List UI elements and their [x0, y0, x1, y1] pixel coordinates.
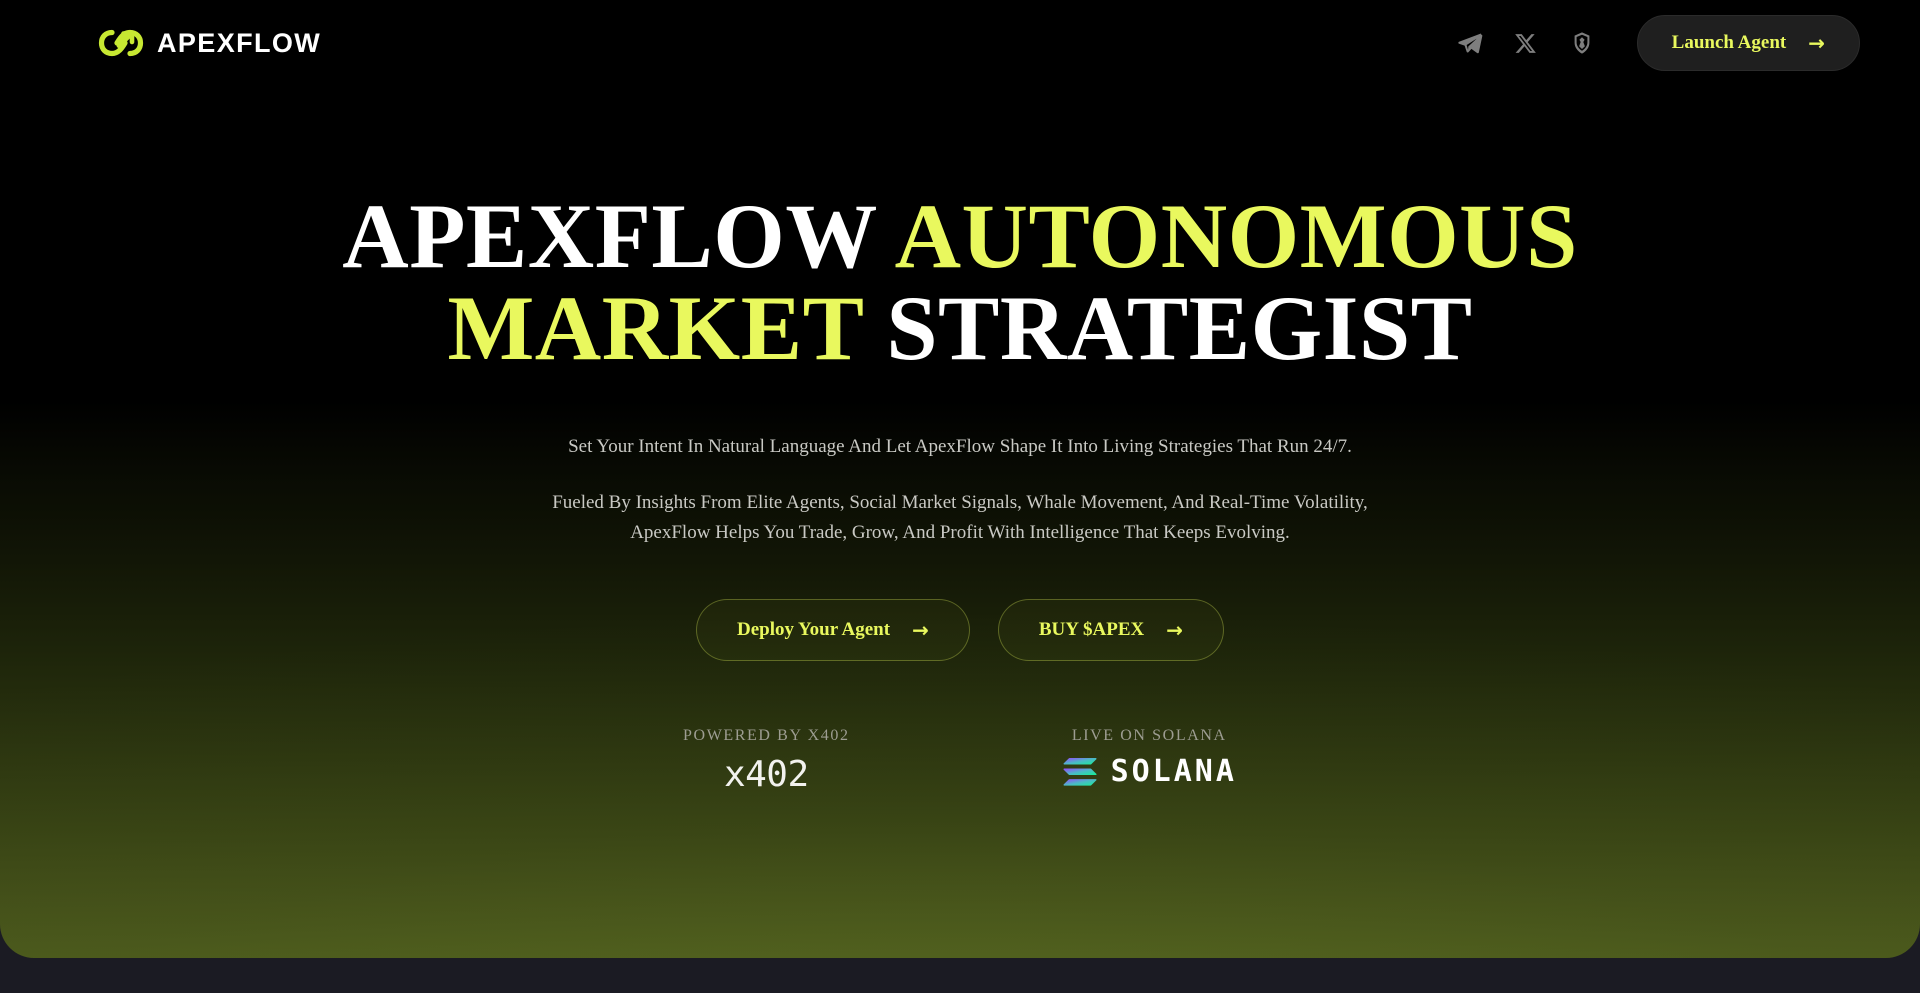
badge-solana-caption: LIVE ON SOLANA [1062, 727, 1237, 745]
x402-wordmark: x402 [683, 757, 850, 793]
badge-x402: POWERED BY X402 x402 [683, 727, 850, 793]
solana-mark-icon [1062, 758, 1098, 786]
partner-badges: POWERED BY X402 x402 LIVE ON SOLANA [0, 727, 1920, 793]
arrow-right-icon: → [1166, 620, 1183, 640]
arrow-right-icon: → [1808, 33, 1825, 53]
deploy-your-agent-button[interactable]: Deploy Your Agent → [696, 599, 970, 661]
buy-apex-label: BUY $APEX [1039, 619, 1144, 641]
solana-wordmark: SOLANA [1111, 757, 1237, 787]
x-twitter-icon[interactable] [1513, 30, 1539, 56]
cta-row: Deploy Your Agent → BUY $APEX → [0, 599, 1920, 661]
social-links [1457, 30, 1595, 56]
hero-subtitle-1: Set Your Intent In Natural Language And … [0, 432, 1920, 461]
page-bottom-strip [0, 958, 1920, 993]
headline-line-2: MARKET STRATEGIST [0, 282, 1920, 374]
headline-line1-plain: APEXFLOW [342, 185, 894, 287]
badge-x402-caption: POWERED BY X402 [683, 727, 850, 745]
site-header: APEXFLOW [0, 0, 1920, 86]
telegram-icon[interactable] [1457, 30, 1483, 56]
hero-section: APEXFLOW [0, 0, 1920, 958]
headline-line2-plain: STRATEGIST [863, 277, 1473, 379]
solana-logo: SOLANA [1062, 757, 1237, 787]
page-title: APEXFLOW AUTONOMOUS MARKET STRATEGIST [0, 190, 1920, 374]
headline-line1-accent: AUTONOMOUS [895, 185, 1578, 287]
hero-subtitle-2: Fueled By Insights From Elite Agents, So… [550, 488, 1370, 547]
launch-agent-button[interactable]: Launch Agent → [1637, 15, 1860, 71]
headline-line2-accent: MARKET [447, 277, 862, 379]
helmet-icon[interactable] [1569, 30, 1595, 56]
buy-apex-button[interactable]: BUY $APEX → [998, 599, 1224, 661]
brand-logo[interactable]: APEXFLOW [98, 24, 321, 62]
infinity-arrow-icon [98, 24, 144, 62]
header-actions: Launch Agent → [1457, 15, 1860, 71]
badge-solana: LIVE ON SOLANA [1062, 727, 1237, 793]
headline-line-1: APEXFLOW AUTONOMOUS [0, 190, 1920, 282]
hero-subtitles: Set Your Intent In Natural Language And … [0, 432, 1920, 547]
hero-content: APEXFLOW AUTONOMOUS MARKET STRATEGIST Se… [0, 86, 1920, 793]
brand-name: APEXFLOW [157, 30, 321, 57]
deploy-agent-label: Deploy Your Agent [737, 619, 890, 641]
arrow-right-icon: → [912, 620, 929, 640]
launch-agent-label: Launch Agent [1672, 32, 1787, 54]
